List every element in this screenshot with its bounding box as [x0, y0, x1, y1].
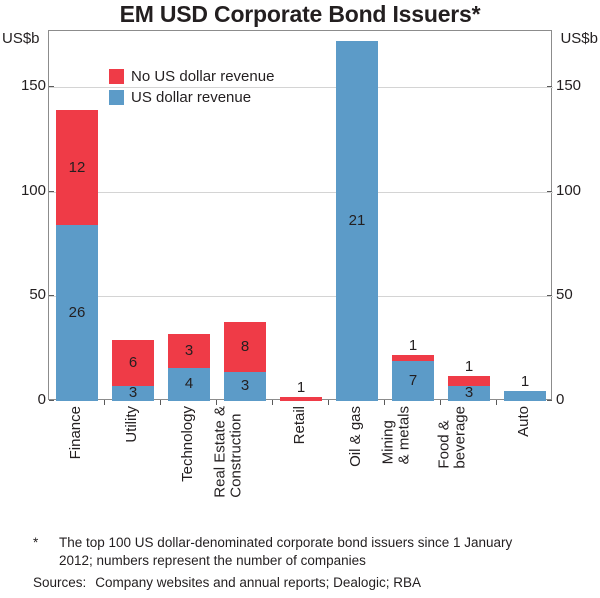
bar-value-label: 7 [392, 373, 434, 388]
y-axis-tick-mark [547, 295, 552, 296]
bar-segment-usd-revenue: 7 [392, 361, 434, 401]
y-axis-tick-mark [49, 295, 54, 296]
bar-value-label: 3 [168, 343, 210, 358]
bar-value-label: 8 [224, 339, 266, 354]
bar-real-estate-construction[interactable]: 38 [224, 322, 266, 401]
bar-utility[interactable]: 36 [112, 340, 154, 401]
category-label-text: Mining& metals [381, 406, 413, 464]
bar-value-label: 21 [336, 213, 378, 228]
bar-value-label: 6 [112, 355, 154, 370]
sources: Sources: Company websites and annual rep… [0, 574, 600, 592]
x-axis-tick-mark [160, 400, 161, 405]
bar-value-label: 12 [56, 160, 98, 175]
bar-value-label: 1 [504, 374, 546, 389]
bar-segment-usd-revenue: 4 [168, 368, 210, 401]
category-label-retail: Retail [279, 406, 321, 521]
bar-segment-no-usd-revenue: 8 [224, 322, 266, 372]
category-label-text: Real Estate &Construction [213, 406, 245, 498]
bar-segment-usd-revenue: 26 [56, 225, 98, 401]
footnote: * The top 100 US dollar-denominated corp… [0, 534, 600, 570]
bar-segment-no-usd-revenue: 12 [56, 110, 98, 225]
red-square-swatch [109, 69, 124, 84]
legend: No US dollar revenue US dollar revenue [109, 67, 274, 109]
y-axis-tick-mark [49, 191, 54, 192]
x-axis-tick-mark [272, 400, 273, 405]
footnote-text: The top 100 US dollar-denominated corpor… [59, 534, 600, 570]
bar-value-label: 4 [168, 376, 210, 391]
legend-label: US dollar revenue [131, 90, 251, 105]
bar-value-label: 1 [448, 359, 490, 374]
y-axis-tick-mark [547, 86, 552, 87]
x-axis-tick-mark [384, 400, 385, 405]
y-axis-tick-mark [547, 191, 552, 192]
category-label-text: Oil & gas [348, 406, 364, 467]
category-label-real-estate-construction: Real Estate &Construction [223, 406, 265, 521]
x-axis-tick-mark [328, 400, 329, 405]
category-label-food-beverage: Food &beverage [447, 406, 489, 521]
category-label-text: Utility [124, 406, 140, 443]
bar-oil-gas[interactable]: 21 [336, 41, 378, 401]
blue-square-swatch [109, 90, 124, 105]
sources-text: Company websites and annual reports; Dea… [95, 574, 421, 592]
x-axis-category-labels: FinanceUtilityTechnologyReal Estate &Con… [48, 406, 552, 521]
category-label-oil-gas: Oil & gas [335, 406, 377, 521]
category-label-utility: Utility [111, 406, 153, 521]
bar-segment-no-usd-revenue: 3 [168, 334, 210, 367]
footnote-marker: * [0, 534, 59, 570]
legend-label: No US dollar revenue [131, 69, 274, 84]
category-label-finance: Finance [55, 406, 97, 521]
bar-value-label: 3 [112, 385, 154, 400]
bar-segment-usd-revenue: 21 [336, 41, 378, 401]
bar-segment-no-usd-revenue [392, 355, 434, 361]
bar-value-label: 1 [392, 338, 434, 353]
category-label-mining-metals: Mining& metals [391, 406, 433, 521]
bar-segment-usd-revenue: 3 [112, 386, 154, 401]
category-label-text: Finance [68, 406, 84, 459]
bar-value-label: 26 [56, 305, 98, 320]
y-axis-tick-label-right: 50 [556, 287, 600, 302]
legend-item: US dollar revenue [109, 88, 274, 107]
sources-label: Sources: [33, 574, 86, 592]
x-axis-tick-mark [104, 400, 105, 405]
y-axis-tick-label-left: 150 [2, 78, 46, 93]
bar-value-label: 3 [224, 378, 266, 393]
y-axis-tick-label-right: 150 [556, 78, 600, 93]
y-axis-unit-right: US$b [560, 30, 598, 47]
legend-item: No US dollar revenue [109, 67, 274, 86]
category-label-technology: Technology [167, 406, 209, 521]
x-axis-tick-mark [440, 400, 441, 405]
bar-mining-metals[interactable]: 71 [392, 355, 434, 401]
category-label-text: Retail [292, 406, 308, 444]
y-axis-unit-left: US$b [2, 30, 40, 47]
y-axis-tick-mark [49, 86, 54, 87]
bar-finance[interactable]: 2612 [56, 110, 98, 401]
bar-segment-usd-revenue: 3 [224, 372, 266, 401]
category-label-text: Food &beverage [437, 406, 469, 469]
bar-food-beverage[interactable]: 31 [448, 376, 490, 401]
category-label-text: Technology [180, 406, 196, 482]
x-axis-tick-mark [216, 400, 217, 405]
chart-notes: * The top 100 US dollar-denominated corp… [0, 534, 600, 593]
x-axis-tick-mark [496, 400, 497, 405]
chart-page: EM USD Corporate Bond Issuers* US$b US$b… [0, 0, 600, 598]
bar-technology[interactable]: 43 [168, 334, 210, 401]
y-axis-tick-label-left: 100 [2, 183, 46, 198]
bar-segment-no-usd-revenue [448, 376, 490, 386]
y-axis-tick-label-right: 0 [556, 392, 600, 407]
plot-area: 261236433812171311 No US dollar revenue … [48, 30, 552, 400]
category-label-text: Auto [516, 406, 532, 437]
bar-value-label: 3 [448, 385, 490, 400]
bar-segment-no-usd-revenue: 6 [112, 340, 154, 386]
bar-value-label: 1 [280, 380, 322, 395]
chart-title: EM USD Corporate Bond Issuers* [0, 1, 600, 28]
y-axis-tick-label-left: 0 [2, 392, 46, 407]
category-label-auto: Auto [503, 406, 545, 521]
bar-segment-usd-revenue: 3 [448, 386, 490, 401]
y-axis-tick-label-right: 100 [556, 183, 600, 198]
y-axis-tick-label-left: 50 [2, 287, 46, 302]
